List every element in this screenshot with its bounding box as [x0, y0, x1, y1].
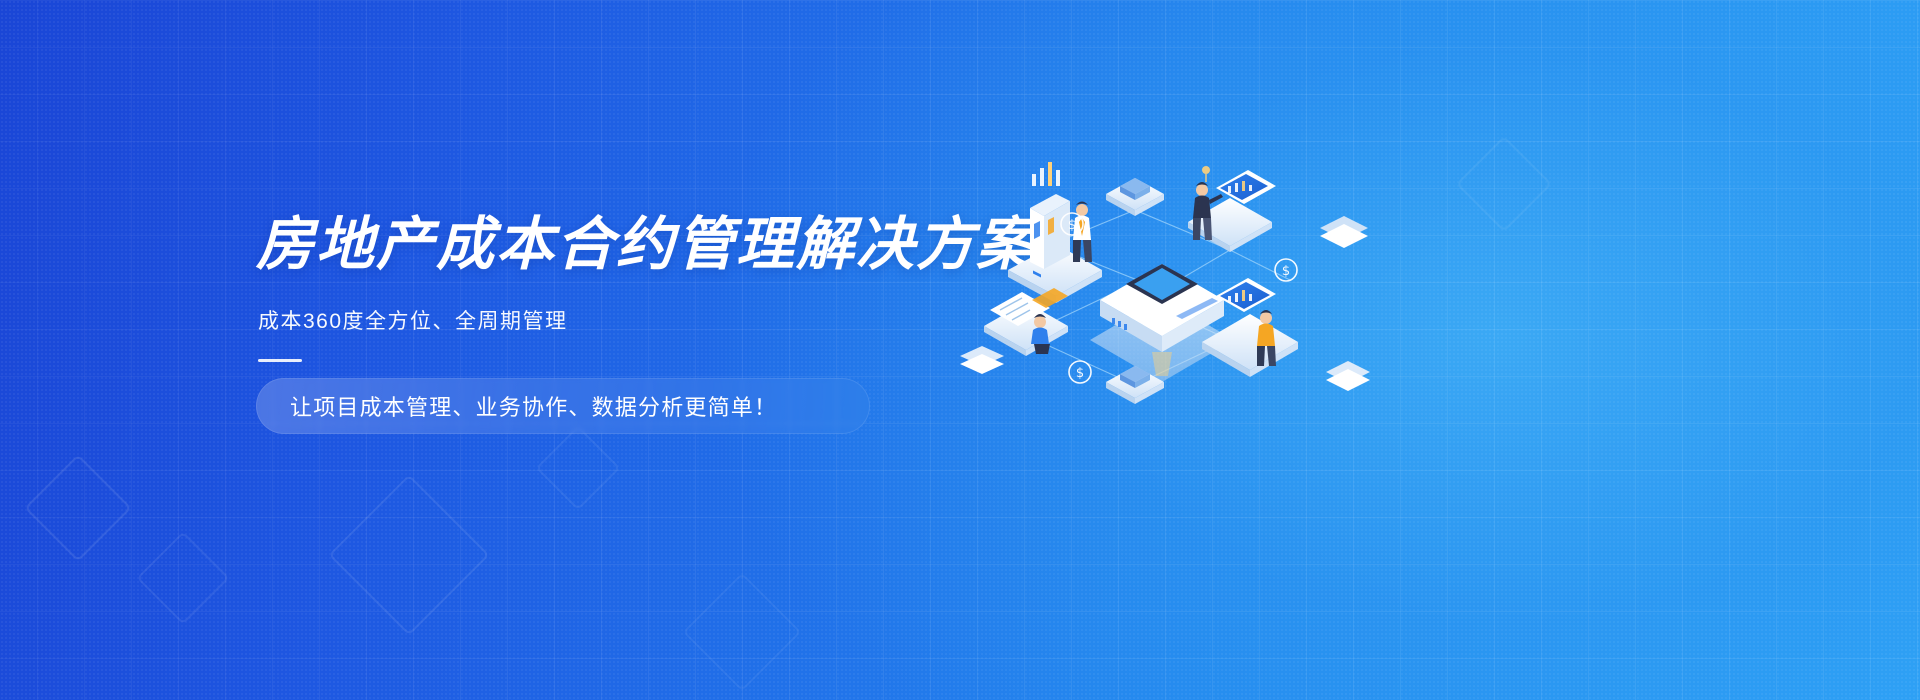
svg-text:$: $ [1076, 366, 1084, 381]
pin-icon [1202, 166, 1210, 182]
coin-badge-2: $ [1275, 259, 1297, 281]
isometric-illustration: $ $ $ [930, 150, 1400, 440]
stacked-cards [1320, 216, 1370, 391]
title-divider [258, 359, 302, 362]
hero-banner: 房地产成本合约管理解决方案 成本360度全方位、全周期管理 让项目成本管理、业务… [0, 0, 1920, 700]
tablet-chart-panel [1202, 278, 1298, 377]
hero-tagline-pill: 让项目成本管理、业务协作、数据分析更简单！ [256, 378, 870, 434]
cube-node-top [1106, 178, 1164, 216]
analytics-screen [1188, 170, 1276, 252]
phone-chart-panel [1008, 162, 1102, 303]
hero-tagline-text: 让项目成本管理、业务协作、数据分析更简单！ [290, 390, 777, 422]
svg-text:$: $ [1282, 264, 1290, 279]
central-server-device [1090, 264, 1234, 382]
mini-bar-chart [1032, 162, 1060, 186]
svg-text:$: $ [1068, 218, 1076, 233]
document-panel [984, 288, 1068, 356]
coin-badge-3: $ [1069, 361, 1091, 383]
stacked-cards [960, 346, 1004, 374]
